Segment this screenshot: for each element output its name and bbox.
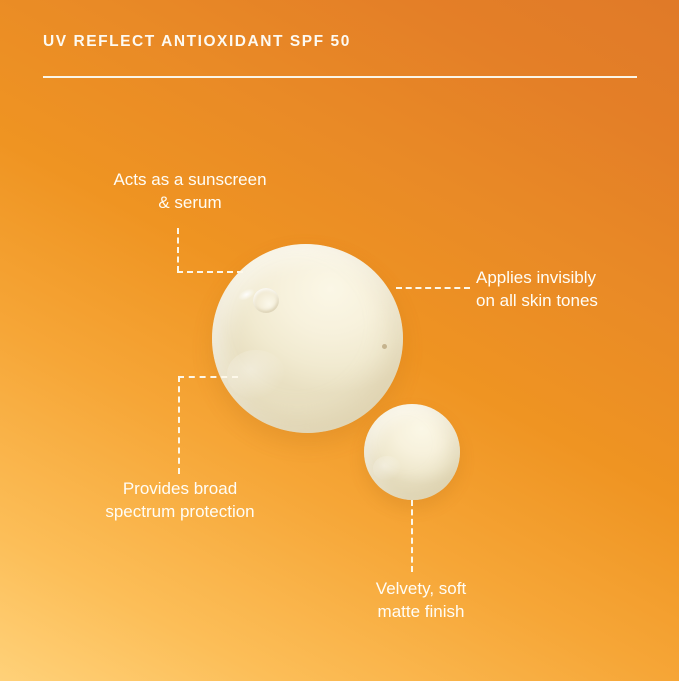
callout-matte-finish: Velvety, soft matte finish (331, 577, 511, 623)
callout-broad-spectrum: Provides broad spectrum protection (66, 477, 294, 523)
callout-acts-as-sunscreen: Acts as a sunscreen & serum (76, 168, 304, 214)
connector-sunscreen-vertical (177, 228, 179, 272)
product-infographic: UV REFLECT ANTIOXIDANT SPF 50 Acts as a … (0, 0, 679, 681)
connector-matte-vertical (411, 500, 413, 572)
droplet-speck (382, 344, 387, 349)
callout-applies-invisibly: Applies invisibly on all skin tones (476, 266, 656, 312)
connector-broad-vertical (178, 376, 180, 474)
page-title: UV REFLECT ANTIOXIDANT SPF 50 (43, 33, 637, 51)
header: UV REFLECT ANTIOXIDANT SPF 50 (43, 33, 637, 51)
small-serum-droplet (364, 404, 460, 500)
header-divider (43, 76, 637, 78)
connector-invisible-horizontal (396, 287, 470, 289)
air-bubble (253, 288, 279, 313)
connector-broad-horizontal (178, 376, 238, 378)
connector-sunscreen-horizontal (177, 271, 243, 273)
